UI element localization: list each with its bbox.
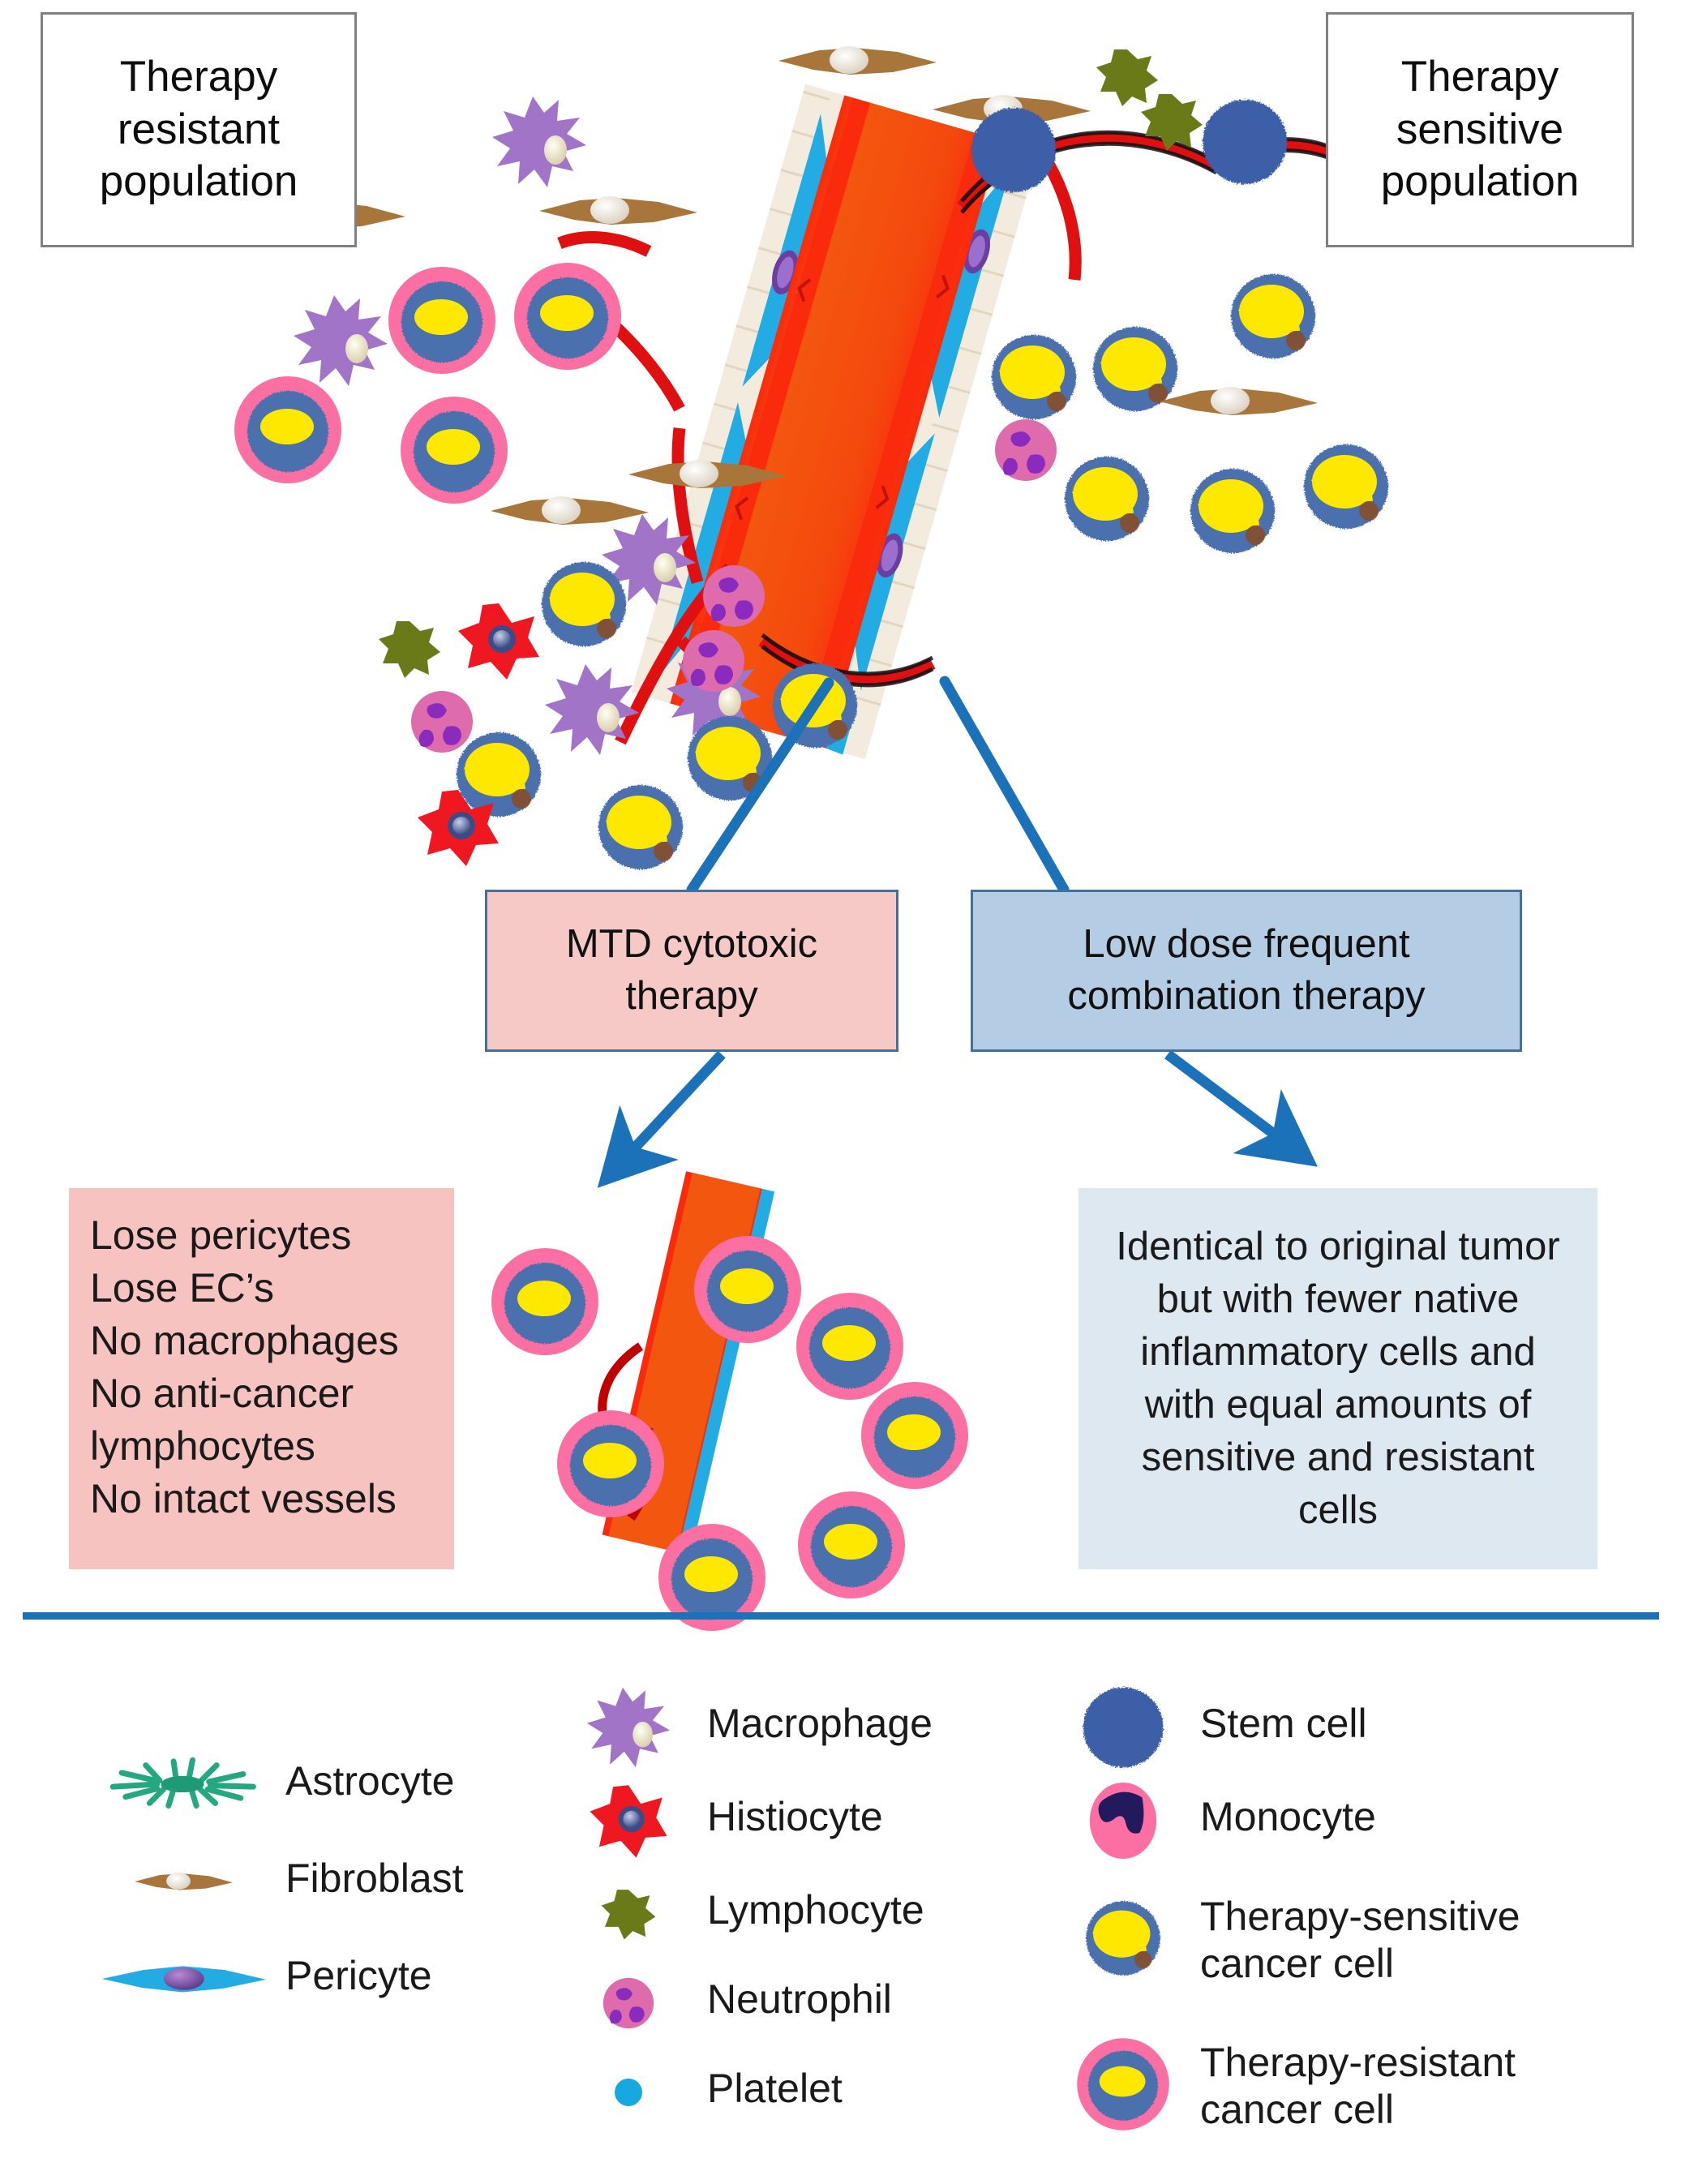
legend-divider [23,1612,1659,1620]
macrophage-icon [587,1688,670,1768]
therapy-resistant-population-label: Therapy resistant population [41,12,357,247]
histiocyte-icon [590,1785,667,1857]
connector-to-lowdose [945,681,1064,890]
therapy-sensitive-cancer-cell-icon [1086,1901,1160,1976]
stem-cell-icon [1083,1688,1164,1768]
pericyte-icon [102,1966,266,1992]
mtd-cytotoxic-therapy-box[interactable]: MTD cytotoxic therapy [485,890,898,1052]
therapy-sensitive-population-label: Therapy sensitive population [1326,12,1634,247]
platelet-icon [615,2079,642,2106]
neutrophil-right [995,419,1057,481]
legend-label-fibroblast: Fibroblast [285,1855,464,1902]
therapy-resistant-cancer-cell-icon [1077,2038,1169,2130]
legend-label-histiocyte: Histiocyte [707,1793,883,1840]
arrow-mtd-to-result [615,1054,722,1169]
mtd-result-cluster [491,1171,968,1631]
legend-label-astrocyte: Astrocyte [285,1757,454,1804]
legend-label-platelet: Platelet [707,2065,843,2112]
legend-label-monocyte: Monocyte [1200,1793,1376,1840]
mtd-outcome-text: Lose pericytes Lose EC’s No macrophages … [90,1212,399,1521]
arrow-lowdose-to-result [1168,1054,1297,1152]
legend-label-stem-cell: Stem cell [1200,1700,1367,1747]
resistant-cell-cluster-left [234,263,621,504]
sensitive-cell-cluster-right [992,274,1388,553]
pop-left-text: Therapy resistant population [100,51,298,208]
ldfc-label: Low dose frequent combination therapy [1067,919,1425,1022]
neutrophil-icon [603,1978,654,2028]
low-dose-outcome-box: Identical to original tumor but with few… [1078,1188,1597,1569]
monocyte-icon [1090,1783,1156,1859]
legend-icons [102,1688,1169,2130]
diagram-illustration [0,0,1681,2184]
low-dose-outcome-text: Identical to original tumor but with few… [1106,1221,1570,1538]
astrocyte-icon [113,1760,253,1805]
mtd-outcome-box: Lose pericytes Lose EC’s No macrophages … [69,1188,454,1569]
mtd-label: MTD cytotoxic therapy [566,919,817,1022]
legend-label-therapy-sensitive-cancer-cell: Therapy-sensitive cancer cell [1200,1893,1520,1987]
pop-right-text: Therapy sensitive population [1381,51,1580,208]
fibroblast-group-right [1160,387,1318,415]
low-dose-frequent-combination-therapy-box[interactable]: Low dose frequent combination therapy [971,890,1522,1052]
legend-label-macrophage: Macrophage [707,1700,933,1747]
fibroblast-icon [135,1873,233,1890]
lymphocyte-icon [602,1890,656,1940]
legend-label-therapy-resistant-cancer-cell: Therapy-resistant cancer cell [1200,2039,1516,2133]
legend-label-lymphocyte: Lymphocyte [707,1886,924,1933]
legend-label-pericyte: Pericyte [285,1952,432,1999]
legend-label-neutrophil: Neutrophil [707,1976,892,2023]
